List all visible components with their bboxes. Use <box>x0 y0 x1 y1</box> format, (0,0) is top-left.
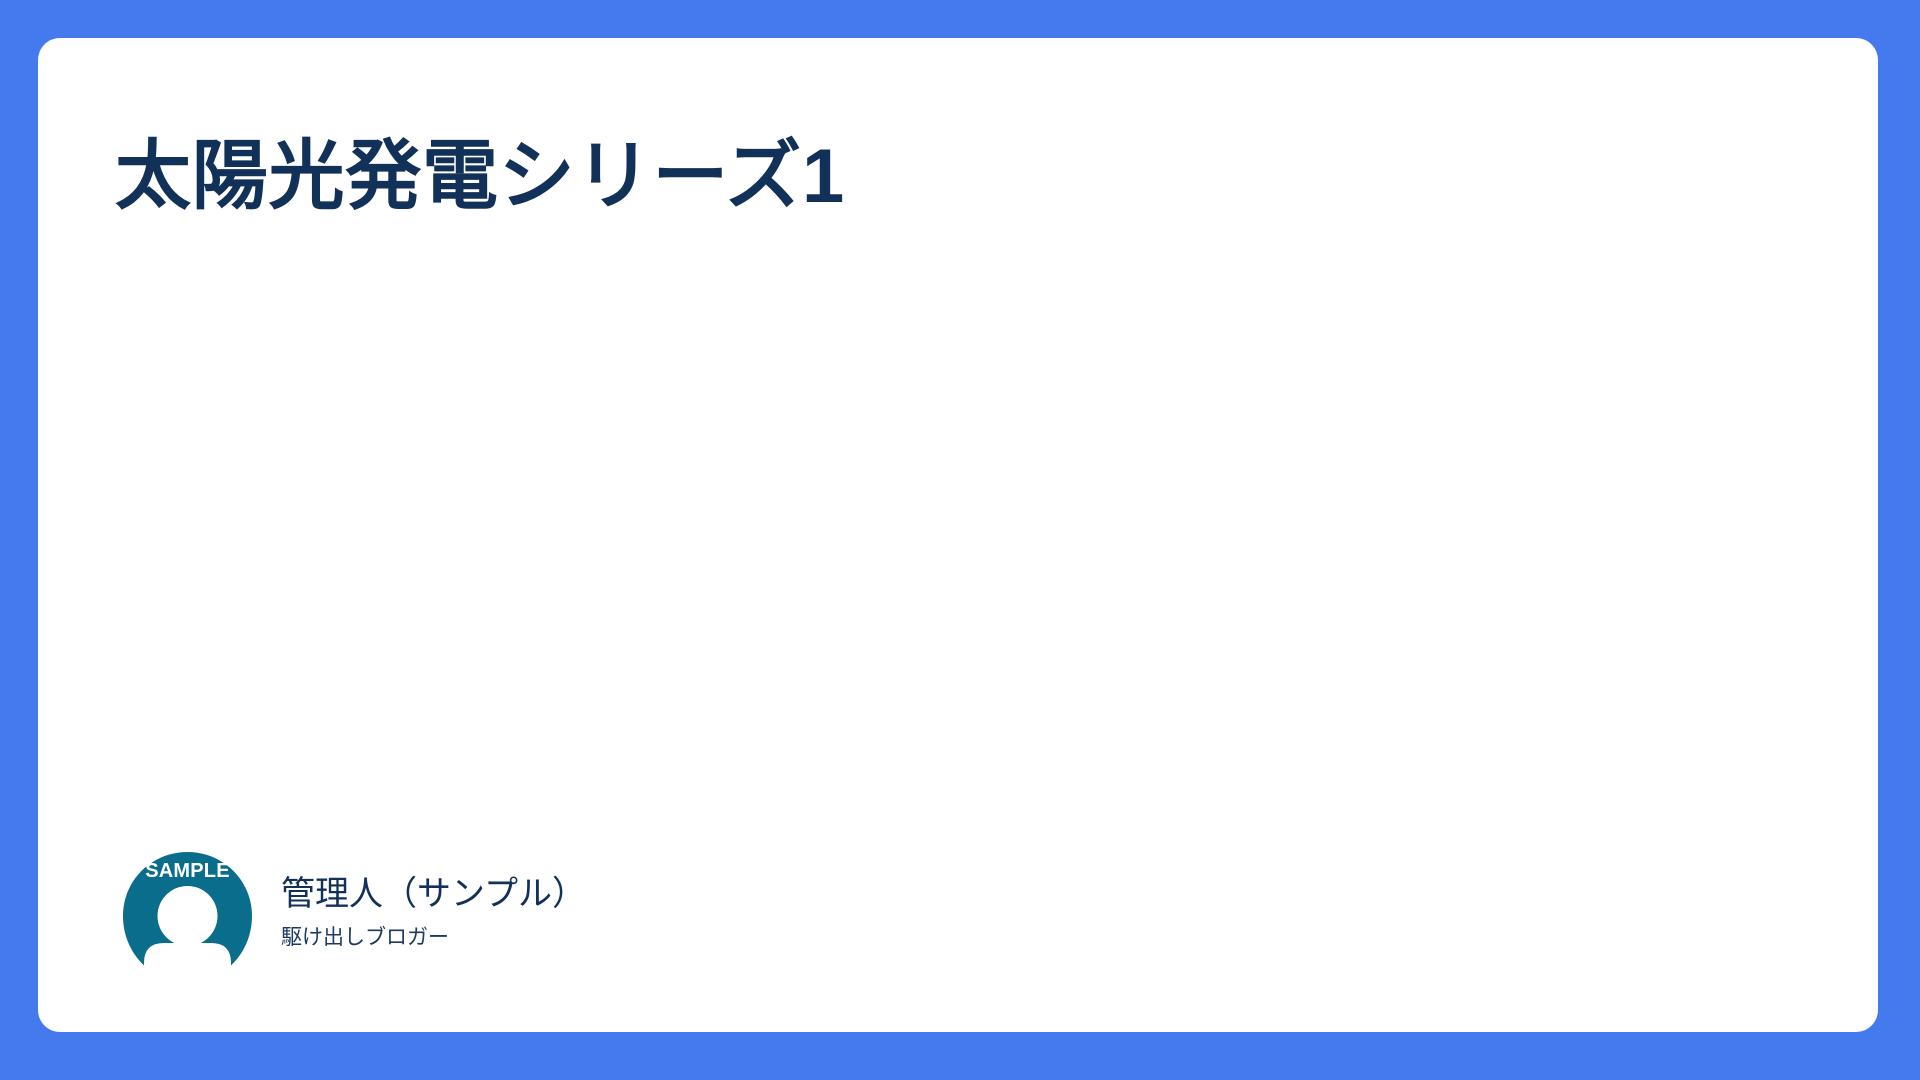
author-role: 駆け出しブロガー <box>281 924 586 951</box>
author-name: 管理人（サンプル） <box>281 873 586 916</box>
author-text: 管理人（サンプル） 駆け出しブロガー <box>281 873 586 955</box>
sample-avatar-icon <box>120 850 255 978</box>
page-title: 太陽光発電シリーズ1 <box>115 132 1798 222</box>
avatar: SAMPLE <box>120 850 255 978</box>
title-block: 太陽光発電シリーズ1 <box>115 132 1798 222</box>
slide-card: 太陽光発電シリーズ1 <box>38 38 1878 1032</box>
author-block: SAMPLE 管理人（サンプル） 駆け出しブロガー <box>120 850 586 978</box>
slide-root: 太陽光発電シリーズ1 <box>0 0 1920 1080</box>
